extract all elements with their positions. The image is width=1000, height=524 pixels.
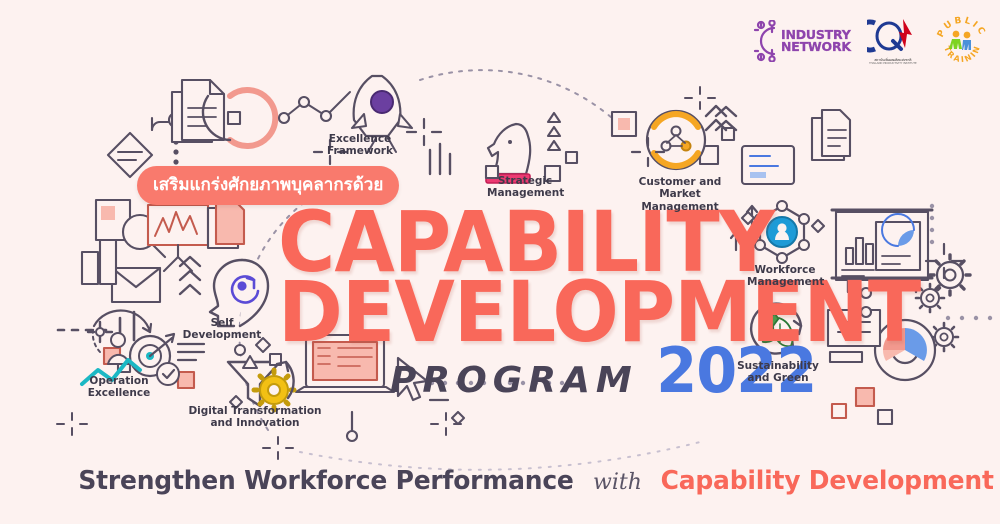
tagline-part-3: Capability Development Program [660,466,1000,496]
pillar-label-self-development: Self Development [170,317,274,342]
tagline-part-1: Strengthen Workforce Performance [78,466,573,496]
public-training-logo[interactable]: PUBLIC TRAINING [935,14,989,68]
pillar-label-operation-excellence: Operation Excellence [60,375,178,400]
pillar-label-digital-transformation-and-innovation: Digital Transformation and Innovation [186,405,324,430]
pillar-label-excellence-framework: Excellence Framework [322,133,398,158]
pillar-label-sustainability-and-green: Sustainability and Green [735,360,821,385]
pillar-label-workforce-management: Workforce Management [747,264,823,289]
logo-bar: INDUSTRY NETWORK สถาบันเพิ่มผลผลิตแห่งชา… [752,14,989,68]
ftpi-logo[interactable]: สถาบันเพิ่มผลผลิตแห่งชาติ THAILAND PRODU… [867,17,919,65]
capability-development-banner: INDUSTRY NETWORK สถาบันเพิ่มผลผลิตแห่งชา… [0,0,1000,524]
industry-network-logo[interactable]: INDUSTRY NETWORK [752,20,851,62]
ftpi-mark-icon [867,17,919,57]
headline-block: CAPABILITY DEVELOPMENT [278,208,969,347]
public-training-mark-icon: PUBLIC TRAINING [935,14,989,68]
industry-network-line2: NETWORK [781,41,851,53]
program-word: PROGRAM [390,360,638,401]
pillar-label-strategic-management: Strategic Management [487,175,563,200]
tagline-part-2: with [593,470,642,495]
bottom-tagline: Strengthen Workforce Performance with Ca… [68,466,1000,496]
industry-gear-icon [752,20,778,62]
ftpi-english-name: THAILAND PRODUCTIVITY INSTITUTE [869,62,917,65]
pillar-label-customer-and-market-management: Customer and Market Management [620,176,740,213]
